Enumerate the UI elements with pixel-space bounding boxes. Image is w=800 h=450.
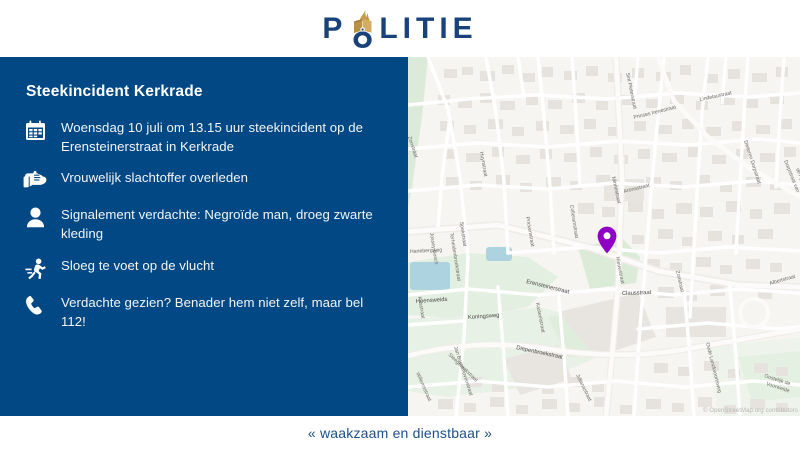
footer: « waakzaam en dienstbaar » [0, 416, 800, 450]
logo-letters-litie: LITIE [379, 14, 477, 44]
running-person-icon [22, 257, 48, 281]
poster-root: P LITIE Steekincident Kerkrade [0, 0, 800, 450]
svg-text:Clausstraat: Clausstraat [622, 290, 652, 297]
incident-location-pin[interactable] [597, 226, 617, 254]
list-item: Woensdag 10 juli om 13.15 uur steekincid… [22, 119, 386, 156]
politie-flame-icon [348, 8, 378, 50]
phone-icon [22, 294, 48, 318]
map-attribution: © OpenStreetMap.org contributors [703, 408, 798, 414]
page-title: Steekincident Kerkrade [22, 83, 386, 101]
calendar-icon [22, 119, 48, 143]
list-item-label: Woensdag 10 juli om 13.15 uur steekincid… [61, 119, 386, 156]
pointing-hand-icon [22, 169, 48, 193]
list-item: Vrouwelijk slachtoffer overleden [22, 169, 386, 193]
incident-fact-list: Woensdag 10 juli om 13.15 uur steekincid… [22, 119, 386, 331]
person-icon [22, 206, 48, 230]
list-item-label: Vrouwelijk slachtoffer overleden [61, 169, 248, 188]
info-panel: Steekincident Kerkrade [0, 57, 408, 416]
list-item-label: Verdachte gezien? Benader hem niet zelf,… [61, 294, 386, 331]
politie-logo: P LITIE [322, 8, 477, 50]
list-item: Sloeg te voet op de vlucht [22, 257, 386, 281]
list-item: Verdachte gezien? Benader hem niet zelf,… [22, 294, 386, 331]
footer-tagline: « waakzaam en dienstbaar » [308, 425, 492, 441]
list-item-label: Signalement verdachte: Negroïde man, dro… [61, 206, 386, 243]
list-item: Signalement verdachte: Negroïde man, dro… [22, 206, 386, 243]
header: P LITIE [0, 0, 800, 57]
logo-letter-p: P [322, 14, 347, 44]
list-item-label: Sloeg te voet op de vlucht [61, 257, 214, 276]
